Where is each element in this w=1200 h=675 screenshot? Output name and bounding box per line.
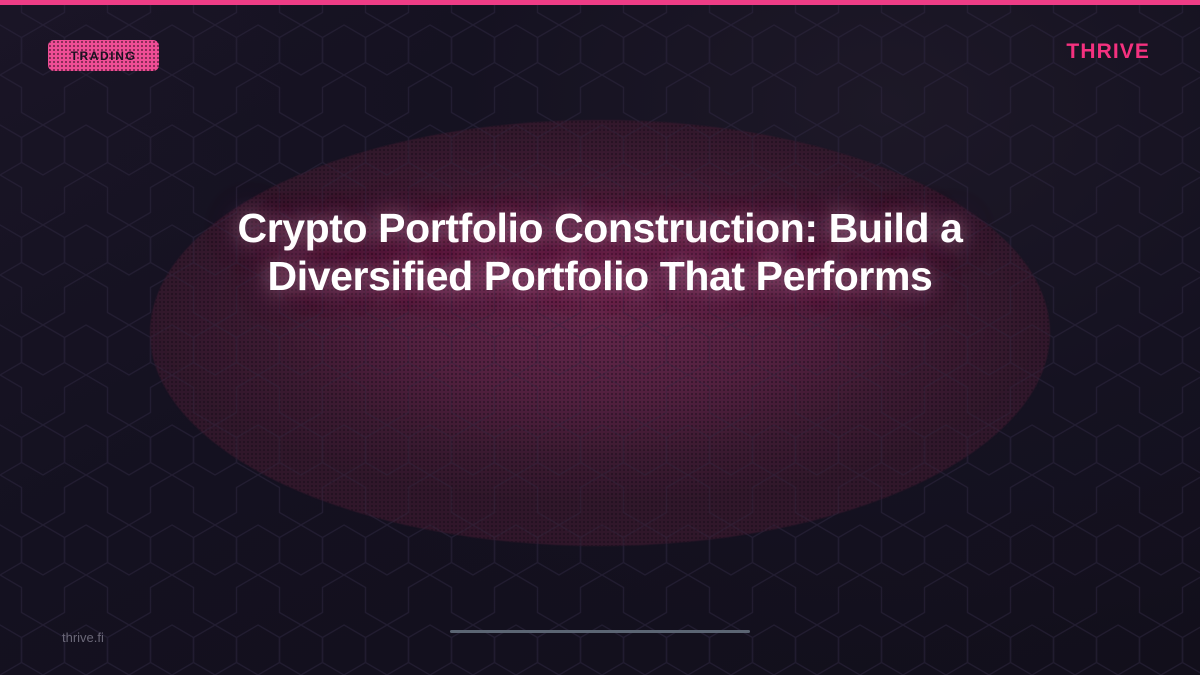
category-badge-label: TRADING — [71, 50, 137, 62]
progress-indicator — [450, 630, 750, 633]
top-accent-bar — [0, 0, 1200, 5]
slide-canvas: TRADING THRIVE Crypto Portfolio Construc… — [0, 0, 1200, 675]
category-badge[interactable]: TRADING — [48, 40, 159, 71]
footer-website-url: thrive.fi — [62, 631, 104, 644]
headline-container: Crypto Portfolio Construction: Build a D… — [0, 205, 1200, 301]
page-title: Crypto Portfolio Construction: Build a D… — [230, 205, 970, 301]
ellipse-spotlight — [150, 120, 1050, 546]
brand-logo[interactable]: THRIVE — [1066, 41, 1150, 62]
